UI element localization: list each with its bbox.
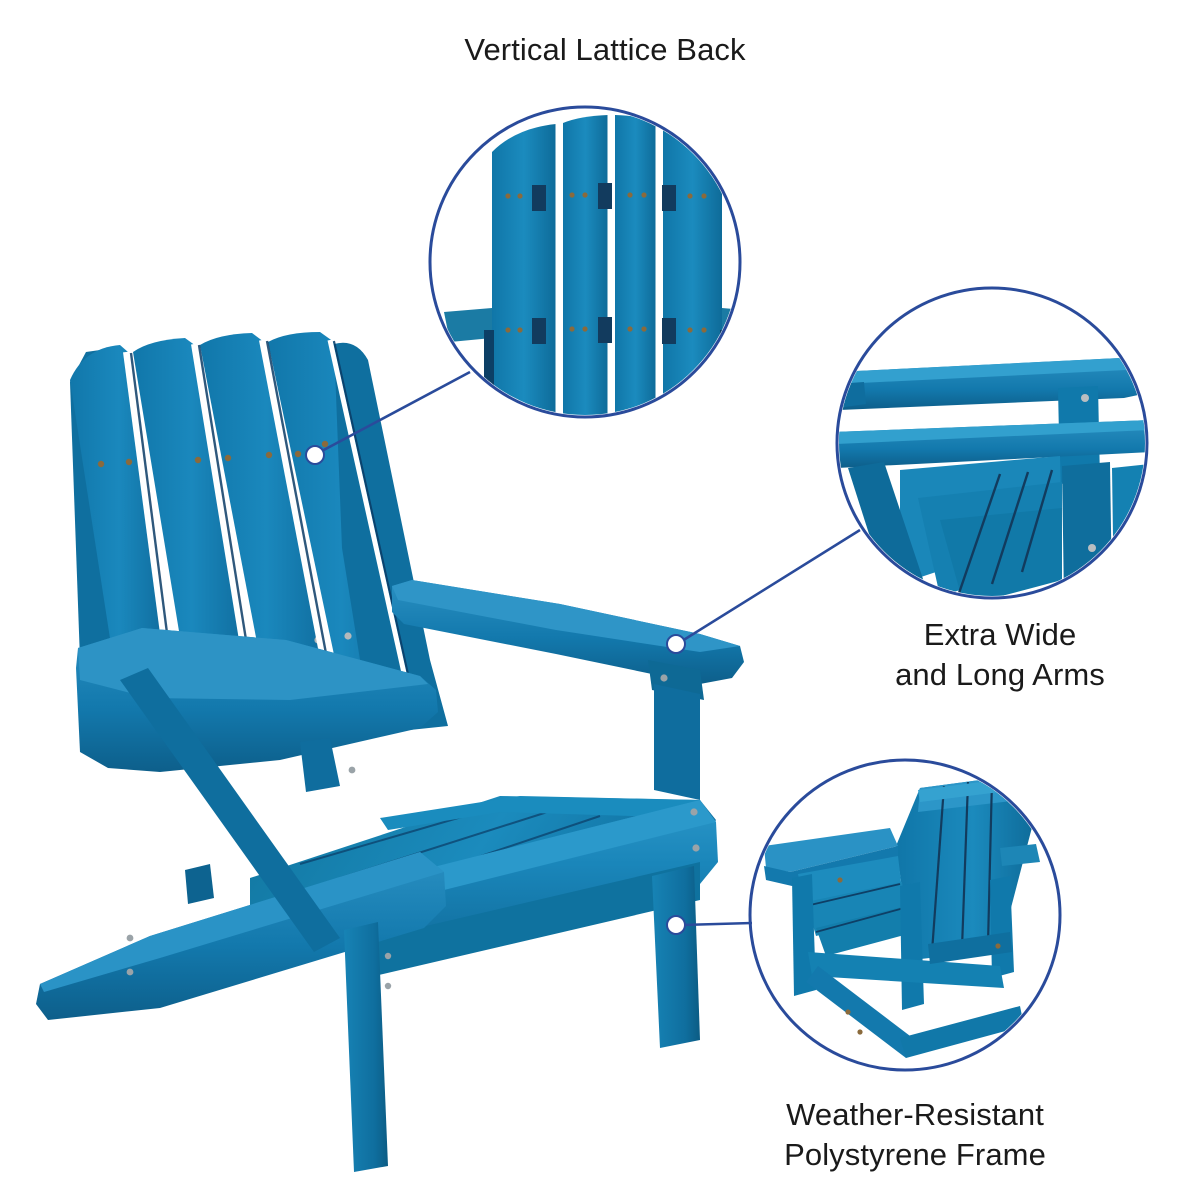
caption-weather-resistant-frame: Weather-Resistant Polystyrene Frame	[745, 1095, 1085, 1176]
caption-vertical-lattice-back: Vertical Lattice Back	[330, 30, 880, 70]
caption-extra-wide-long-arms: Extra Wide and Long Arms	[835, 615, 1165, 696]
leader-line-frame	[682, 923, 752, 925]
leader-marker-frame	[667, 916, 685, 934]
infographic-canvas: Vertical Lattice Back Extra Wide and Lon…	[0, 0, 1200, 1200]
callout-polystyrene-frame	[0, 0, 1200, 1200]
callout-3-content	[750, 760, 1070, 1080]
